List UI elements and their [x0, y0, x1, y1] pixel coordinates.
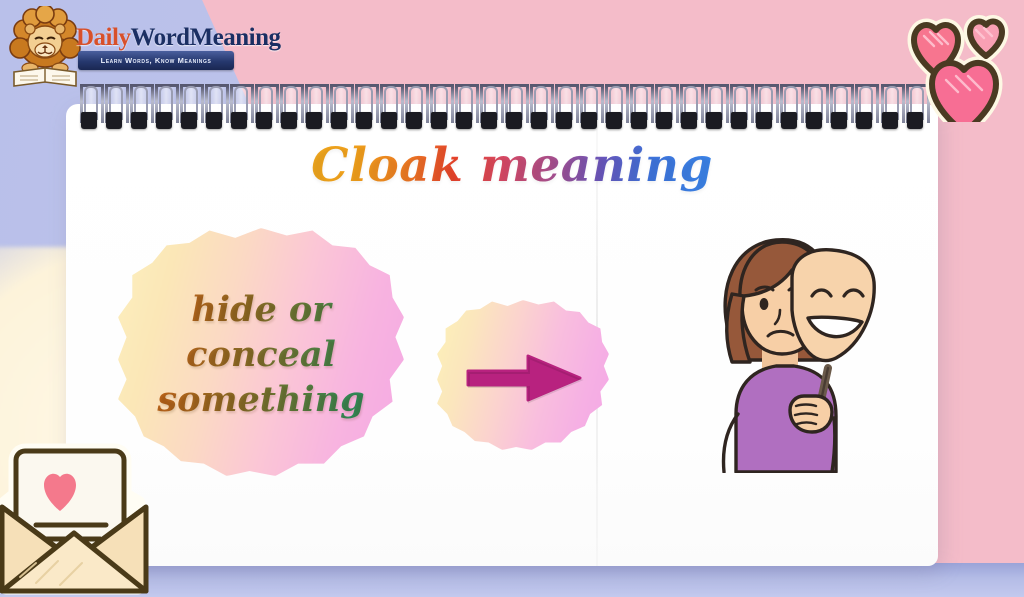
spiral-ring-clip	[156, 112, 172, 129]
spiral-ring-clip	[81, 112, 97, 129]
spiral-ring-clip	[556, 112, 572, 129]
spiral-ring	[353, 84, 375, 136]
spiral-ring	[503, 84, 525, 136]
site-logo[interactable]: DailyWordMeaning Learn Words, Know Meani…	[6, 4, 246, 90]
spiral-ring	[478, 84, 500, 136]
spiral-ring-clip	[606, 112, 622, 129]
spiral-ring	[753, 84, 775, 136]
spiral-ring	[428, 84, 450, 136]
spiral-ring-clip	[331, 112, 347, 129]
logo-tagline-ribbon: Learn Words, Know Meanings	[78, 51, 234, 70]
woman-holding-smiling-mask-illustration	[676, 218, 886, 473]
arrow-right-icon	[464, 352, 584, 404]
spiral-ring-clip	[231, 112, 247, 129]
spiral-ring	[803, 84, 825, 136]
spiral-ring	[453, 84, 475, 136]
spiral-ring-clip	[381, 112, 397, 129]
spiral-ring-clip	[531, 112, 547, 129]
spiral-ring	[153, 84, 175, 136]
spiral-ring-clip	[656, 112, 672, 129]
spiral-ring-clip	[806, 112, 822, 129]
spiral-ring-clip	[706, 112, 722, 129]
spiral-ring-clip	[281, 112, 297, 129]
love-letter-envelope-doodle	[0, 437, 156, 597]
spiral-ring-clip	[506, 112, 522, 129]
spiral-ring	[303, 84, 325, 136]
spiral-ring-clip	[781, 112, 797, 129]
spiral-ring-clip	[831, 112, 847, 129]
spiral-ring-clip	[456, 112, 472, 129]
spiral-ring	[203, 84, 225, 136]
spiral-ring	[128, 84, 150, 136]
definition-line-3: something	[118, 378, 404, 423]
definition-text: hide or conceal something	[118, 288, 404, 422]
page-title: Cloak meaning	[0, 138, 1024, 193]
spiral-ring	[728, 84, 750, 136]
spiral-ring	[828, 84, 850, 136]
spiral-ring-clip	[431, 112, 447, 129]
spiral-ring-clip	[631, 112, 647, 129]
spiral-ring	[278, 84, 300, 136]
spiral-ring-clip	[731, 112, 747, 129]
spiral-ring	[178, 84, 200, 136]
spiral-ring	[378, 84, 400, 136]
spiral-ring-clip	[481, 112, 497, 129]
spiral-ring	[78, 84, 100, 136]
spiral-ring	[678, 84, 700, 136]
lion-reading-book-icon	[6, 6, 84, 90]
page-title-text: Cloak meaning	[311, 138, 713, 193]
spiral-ring-clip	[406, 112, 422, 129]
logo-word-word: Word	[130, 24, 189, 51]
spiral-ring	[228, 84, 250, 136]
spiral-ring-clip	[131, 112, 147, 129]
definition-line-2: conceal	[118, 333, 404, 378]
spiral-ring	[578, 84, 600, 136]
spiral-ring-clip	[256, 112, 272, 129]
slide-canvas: Cloak meaning hide or conceal something	[0, 0, 1024, 597]
spiral-binding	[78, 84, 926, 136]
spiral-ring-clip	[106, 112, 122, 129]
logo-word-meaning: Meaning	[190, 24, 281, 51]
spiral-ring-clip	[581, 112, 597, 129]
hearts-doodle	[870, 0, 1020, 122]
spiral-ring-clip	[356, 112, 372, 129]
spiral-ring	[103, 84, 125, 136]
logo-word-daily: Daily	[76, 24, 130, 51]
spiral-ring-clip	[206, 112, 222, 129]
logo-wordmark: DailyWordMeaning	[76, 24, 281, 52]
spiral-ring	[653, 84, 675, 136]
spiral-ring	[553, 84, 575, 136]
spiral-ring	[603, 84, 625, 136]
spiral-ring	[703, 84, 725, 136]
logo-tagline-text: Learn Words, Know Meanings	[78, 51, 234, 70]
spiral-ring-clip	[681, 112, 697, 129]
spiral-ring	[328, 84, 350, 136]
spiral-ring-clip	[756, 112, 772, 129]
spiral-ring	[628, 84, 650, 136]
spiral-ring-clip	[306, 112, 322, 129]
spiral-ring-clip	[181, 112, 197, 129]
spiral-ring	[778, 84, 800, 136]
spiral-ring	[253, 84, 275, 136]
definition-line-1: hide or	[118, 288, 404, 333]
spiral-ring	[528, 84, 550, 136]
spiral-ring	[403, 84, 425, 136]
